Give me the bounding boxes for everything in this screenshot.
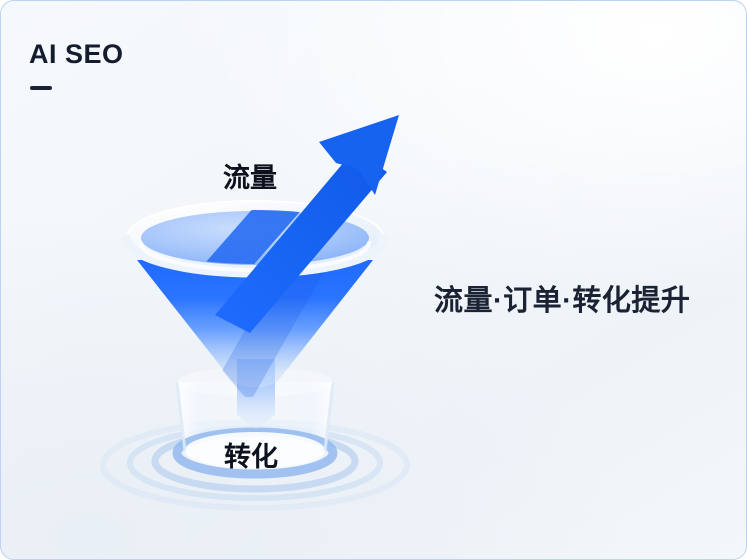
page-title: AI SEO bbox=[29, 39, 124, 70]
label-traffic: 流量 bbox=[223, 156, 277, 195]
headline-text: 流量·订单·转化提升 bbox=[434, 277, 690, 319]
title-underline-rule bbox=[30, 86, 52, 90]
label-conversion: 转化 bbox=[224, 435, 278, 474]
slide-card: AI SEO bbox=[0, 0, 747, 560]
